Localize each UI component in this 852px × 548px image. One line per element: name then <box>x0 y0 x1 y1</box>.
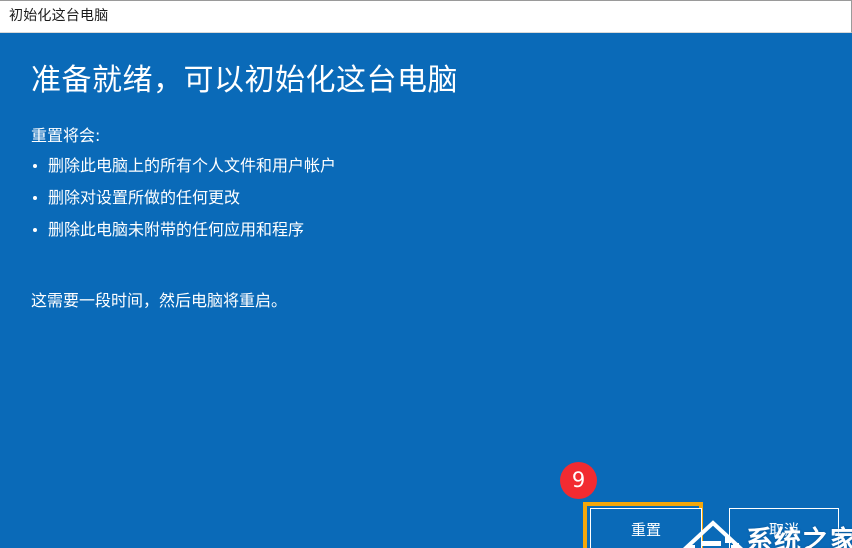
closing-text: 这需要一段时间，然后电脑将重启。 <box>31 289 287 313</box>
reset-pc-wizard-window: 初始化这台电脑 准备就绪，可以初始化这台电脑 重置将会: 删除此电脑上的所有个人… <box>0 0 852 548</box>
bullet-dot-icon <box>33 196 37 200</box>
list-item: 删除对设置所做的任何更改 <box>31 185 336 211</box>
list-item: 删除此电脑未附带的任何应用和程序 <box>31 217 336 243</box>
reset-effects-list: 删除此电脑上的所有个人文件和用户帐户 删除对设置所做的任何更改 删除此电脑未附带… <box>31 153 336 249</box>
bullet-dot-icon <box>33 228 37 232</box>
window-titlebar: 初始化这台电脑 <box>0 0 852 33</box>
content-left-edge <box>0 33 2 548</box>
page-title: 准备就绪，可以初始化这台电脑 <box>31 61 458 101</box>
cancel-button[interactable]: 取消 <box>729 508 839 548</box>
list-item-label: 删除此电脑上的所有个人文件和用户帐户 <box>48 156 336 175</box>
bullet-dot-icon <box>33 164 37 168</box>
list-item-label: 删除此电脑未附带的任何应用和程序 <box>48 220 304 239</box>
list-item: 删除此电脑上的所有个人文件和用户帐户 <box>31 153 336 179</box>
intro-text: 重置将会: <box>31 125 100 147</box>
window-title: 初始化这台电脑 <box>9 7 108 26</box>
reset-button[interactable]: 重置 <box>590 508 702 548</box>
wizard-content-area: 准备就绪，可以初始化这台电脑 重置将会: 删除此电脑上的所有个人文件和用户帐户 … <box>0 33 852 548</box>
list-item-label: 删除对设置所做的任何更改 <box>48 188 240 207</box>
step-number-badge: 9 <box>560 462 597 499</box>
